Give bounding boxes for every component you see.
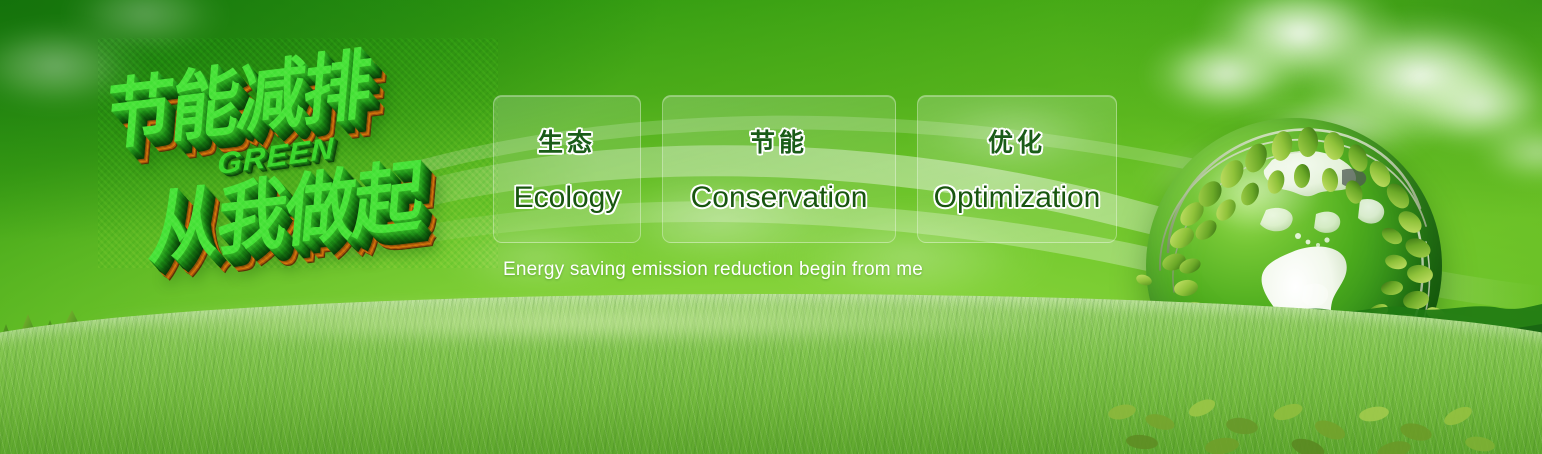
globe-specular-highlight — [1193, 145, 1323, 234]
feature-card-title-en: Optimization — [934, 181, 1101, 215]
tagline-text: Energy saving emission reduction begin f… — [503, 259, 923, 281]
feature-card-title-cn: 节能 — [750, 123, 808, 159]
feature-card-ecology[interactable]: 生态 Ecology — [493, 95, 641, 243]
eco-banner: 节能减排 从我做起 GREEN 生态 Ecology 节能 Conservati… — [0, 0, 1542, 454]
feature-card-title-cn: 生态 — [538, 123, 596, 159]
feature-card-list: 生态 Ecology 节能 Conservation 优化 Optimizati… — [493, 95, 1117, 243]
title-artwork: 节能减排 从我做起 GREEN — [98, 38, 498, 268]
feature-card-title-en: Ecology — [514, 181, 621, 215]
feature-card-optimization[interactable]: 优化 Optimization — [917, 95, 1117, 243]
feature-card-title-en: Conservation — [691, 181, 868, 215]
ground-leaf-litter-icon — [1082, 368, 1502, 454]
ground-scenery — [0, 314, 1542, 454]
grass-highlight — [72, 300, 1105, 344]
feature-card-conservation[interactable]: 节能 Conservation — [662, 95, 896, 243]
feature-card-title-cn: 优化 — [988, 123, 1046, 159]
